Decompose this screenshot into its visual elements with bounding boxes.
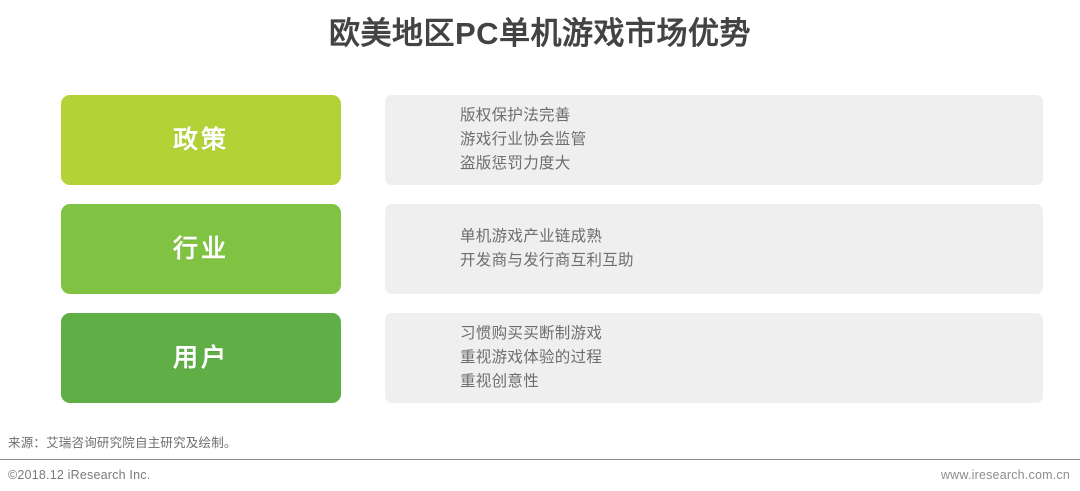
copyright-text: ©2018.12 iResearch Inc. xyxy=(8,468,150,482)
content-rows: 政策 版权保护法完善 游戏行业协会监管 盗版惩罚力度大 行业 单机游戏产业链成熟… xyxy=(0,95,1080,422)
detail-line: 重视游戏体验的过程 xyxy=(460,346,1043,370)
detail-line: 习惯购买买断制游戏 xyxy=(460,322,1043,346)
detail-line: 游戏行业协会监管 xyxy=(460,128,1043,152)
detail-panel-policy: 版权保护法完善 游戏行业协会监管 盗版惩罚力度大 xyxy=(385,95,1043,185)
detail-line: 重视创意性 xyxy=(460,370,1043,394)
category-label-industry: 行业 xyxy=(173,234,229,264)
detail-line: 版权保护法完善 xyxy=(460,104,1043,128)
detail-panel-user: 习惯购买买断制游戏 重视游戏体验的过程 重视创意性 xyxy=(385,313,1043,403)
page-title: 欧美地区PC单机游戏市场优势 xyxy=(329,14,751,54)
source-note: 来源：艾瑞咨询研究院自主研究及绘制。 xyxy=(8,432,237,451)
detail-line: 开发商与发行商互利互助 xyxy=(460,249,1043,273)
detail-panel-industry: 单机游戏产业链成熟 开发商与发行商互利互助 xyxy=(385,204,1043,294)
category-label-user: 用户 xyxy=(173,343,229,373)
category-box-user[interactable]: 用户 xyxy=(61,313,341,403)
website-text: www.iresearch.com.cn xyxy=(941,468,1070,482)
detail-line: 盗版惩罚力度大 xyxy=(460,152,1043,176)
row-user: 用户 习惯购买买断制游戏 重视游戏体验的过程 重视创意性 xyxy=(0,313,1080,403)
footer-divider xyxy=(0,459,1080,460)
category-box-policy[interactable]: 政策 xyxy=(61,95,341,185)
row-policy: 政策 版权保护法完善 游戏行业协会监管 盗版惩罚力度大 xyxy=(0,95,1080,185)
category-label-policy: 政策 xyxy=(173,125,229,155)
category-box-industry[interactable]: 行业 xyxy=(61,204,341,294)
title-bar: 欧美地区PC单机游戏市场优势 xyxy=(0,14,1080,54)
row-industry: 行业 单机游戏产业链成熟 开发商与发行商互利互助 xyxy=(0,204,1080,294)
detail-line: 单机游戏产业链成熟 xyxy=(460,225,1043,249)
